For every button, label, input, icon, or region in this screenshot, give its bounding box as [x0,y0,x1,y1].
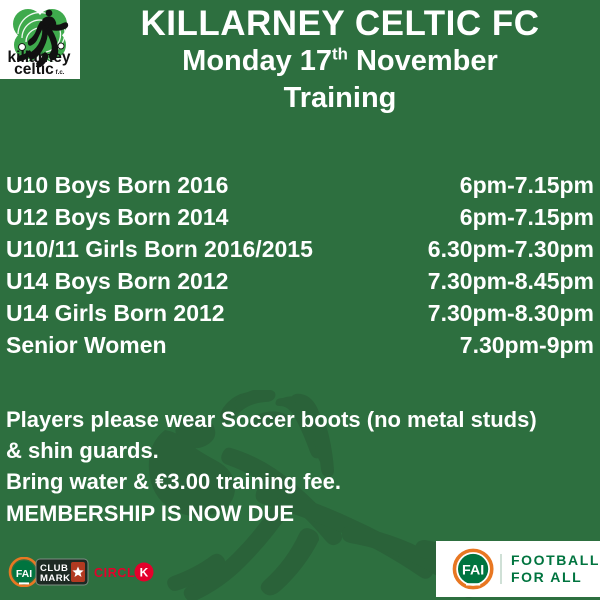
schedule-group: U14 Girls Born 2012 [6,300,225,327]
ffa-line1: FOOTBALL [511,552,600,570]
crest-fc-suffix: f.c. [56,70,65,76]
fai-roundel-icon: FAI [454,550,491,587]
schedule-time: 7.30pm-8.30pm [428,300,594,327]
club-mark-badge: CLUB MARK [36,559,88,585]
schedule-group: U14 Boys Born 2012 [6,268,228,295]
note-line: Players please wear Soccer boots (no met… [6,404,596,435]
table-row: U14 Girls Born 2012 7.30pm-8.30pm [6,300,594,332]
schedule-group: Senior Women [6,332,167,359]
schedule-time: 7.30pm-8.45pm [428,268,594,295]
fai-mark-text: FAI [16,568,32,580]
circle-k-logo: CIRCLE K [94,563,154,582]
fai-badge-mark: FAI [462,562,484,578]
fai-football-for-all-badge: FAI FOOTBALL FOR ALL [436,541,600,597]
schedule-time: 6pm-7.15pm [460,204,594,231]
club-crest-logo: killarney celtic f.c. [0,0,80,79]
fai-club-mark-logo: FAI [10,558,38,586]
football-for-all-text: FOOTBALL FOR ALL [511,552,600,587]
player-notes: Players please wear Soccer boots (no met… [6,404,596,529]
ffa-line2: FOR ALL [511,569,600,587]
poster-header: KILLARNEY CELTIC FC Monday 17th November… [80,4,600,117]
schedule-time: 7.30pm-9pm [460,332,594,359]
table-row: U10/11 Girls Born 2016/2015 6.30pm-7.30p… [6,236,594,268]
table-row: U10 Boys Born 2016 6pm-7.15pm [6,172,594,204]
page-title: KILLARNEY CELTIC FC [80,4,600,43]
table-row: U12 Boys Born 2014 6pm-7.15pm [6,204,594,236]
training-notice-poster: killarney celtic f.c. KILLARNEY CELTIC F… [0,0,600,600]
schedule-group: U10/11 Girls Born 2016/2015 [6,236,313,263]
poster-subtitle: Training [80,80,600,117]
note-line: & shin guards. [6,435,596,466]
note-line: MEMBERSHIP IS NOW DUE [6,498,596,529]
training-schedule: U10 Boys Born 2016 6pm-7.15pm U12 Boys B… [6,172,594,364]
table-row: Senior Women 7.30pm-9pm [6,332,594,364]
training-date: Monday 17th November [80,43,600,80]
club-mark-line2: MARK [40,573,71,584]
date-ordinal: th [332,45,348,64]
table-row: U14 Boys Born 2012 7.30pm-8.45pm [6,268,594,300]
date-suffix: November [348,45,498,77]
schedule-time: 6pm-7.15pm [460,172,594,199]
crest-club-name-line2: celtic [14,61,54,78]
schedule-group: U10 Boys Born 2016 [6,172,228,199]
note-line: Bring water & €3.00 training fee. [6,466,596,497]
schedule-time: 6.30pm-7.30pm [428,236,594,263]
badge-divider [500,554,502,584]
date-prefix: Monday 17 [182,45,332,77]
sponsor-badges-left: FAI CLUB MARK CIRCLE K [8,557,156,587]
schedule-group: U12 Boys Born 2014 [6,204,228,231]
circle-k-letter: K [140,566,149,580]
